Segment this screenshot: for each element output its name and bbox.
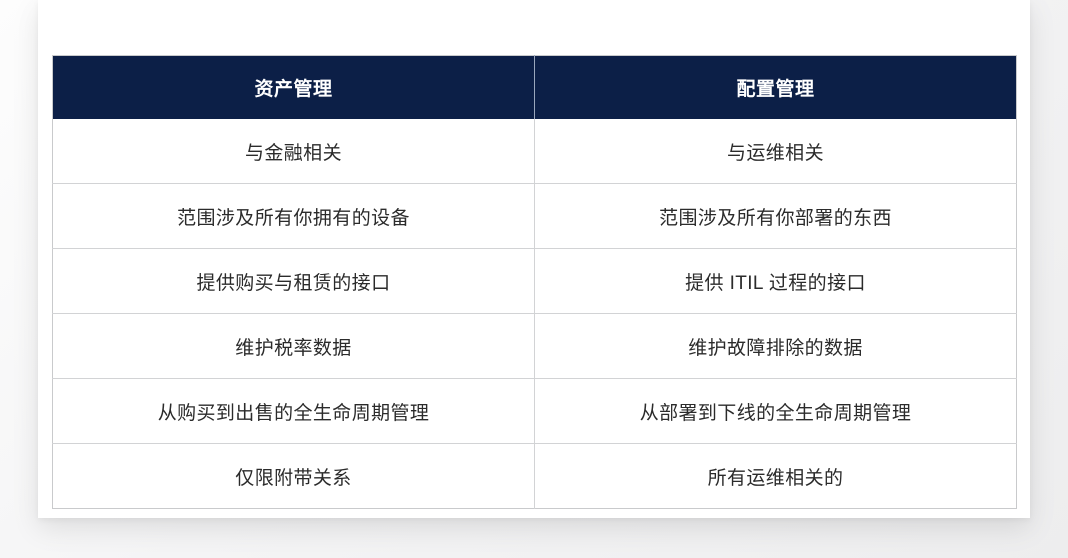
comparison-table: 资产管理 配置管理 与金融相关 与运维相关 范围涉及所有你拥有的设备 范围涉及所… (52, 55, 1017, 509)
cell-configuration-management-4: 维护故障排除的数据 (535, 314, 1017, 379)
cell-configuration-management-3: 提供 ITIL 过程的接口 (535, 249, 1017, 314)
table-row: 与金融相关 与运维相关 (53, 119, 1017, 184)
cell-configuration-management-2: 范围涉及所有你部署的东西 (535, 184, 1017, 249)
cell-configuration-management-1: 与运维相关 (535, 119, 1017, 184)
table-row: 提供购买与租赁的接口 提供 ITIL 过程的接口 (53, 249, 1017, 314)
table-row: 仅限附带关系 所有运维相关的 (53, 444, 1017, 509)
column-header-configuration-management: 配置管理 (535, 56, 1017, 120)
cell-asset-management-3: 提供购买与租赁的接口 (53, 249, 535, 314)
table-header-row: 资产管理 配置管理 (53, 56, 1017, 120)
content-card: 资产管理 配置管理 与金融相关 与运维相关 范围涉及所有你拥有的设备 范围涉及所… (38, 0, 1030, 518)
cell-asset-management-4: 维护税率数据 (53, 314, 535, 379)
cell-configuration-management-6: 所有运维相关的 (535, 444, 1017, 509)
table-row: 维护税率数据 维护故障排除的数据 (53, 314, 1017, 379)
table-header: 资产管理 配置管理 (53, 56, 1017, 120)
column-header-asset-management: 资产管理 (53, 56, 535, 120)
cell-asset-management-2: 范围涉及所有你拥有的设备 (53, 184, 535, 249)
table-row: 从购买到出售的全生命周期管理 从部署到下线的全生命周期管理 (53, 379, 1017, 444)
table-body: 与金融相关 与运维相关 范围涉及所有你拥有的设备 范围涉及所有你部署的东西 提供… (53, 119, 1017, 509)
table-row: 范围涉及所有你拥有的设备 范围涉及所有你部署的东西 (53, 184, 1017, 249)
cell-asset-management-5: 从购买到出售的全生命周期管理 (53, 379, 535, 444)
cell-asset-management-6: 仅限附带关系 (53, 444, 535, 509)
cell-asset-management-1: 与金融相关 (53, 119, 535, 184)
cell-configuration-management-5: 从部署到下线的全生命周期管理 (535, 379, 1017, 444)
page-canvas: 资产管理 配置管理 与金融相关 与运维相关 范围涉及所有你拥有的设备 范围涉及所… (0, 0, 1068, 558)
